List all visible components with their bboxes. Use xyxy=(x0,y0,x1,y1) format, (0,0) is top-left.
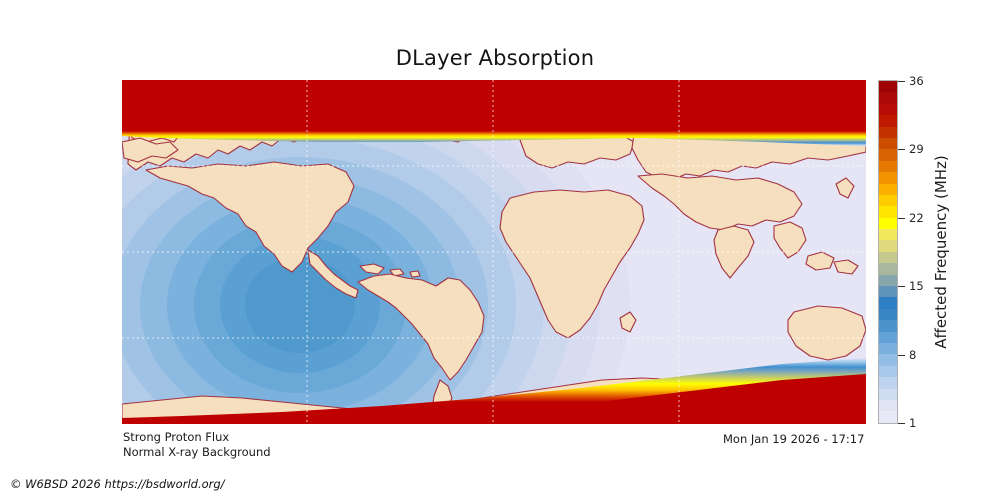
proton-flux-status: Strong Proton Flux xyxy=(123,430,229,444)
colorbar-axis-label: Affected Frequency (MHz) xyxy=(932,80,950,424)
xray-background-status: Normal X-ray Background xyxy=(123,445,271,459)
colorbar-step xyxy=(879,377,897,388)
colorbar-step xyxy=(879,411,897,422)
copyright-footer: © W6BSD 2026 https://bsdworld.org/ xyxy=(10,477,225,491)
colorbar-tick-label: 29 xyxy=(909,142,924,156)
colorbar-tick-label: 15 xyxy=(909,279,924,293)
colorbar-step xyxy=(879,92,897,103)
colorbar-tick xyxy=(898,149,905,150)
page-title: DLayer Absorption xyxy=(0,46,990,70)
colorbar-step xyxy=(879,297,897,308)
world-map-plot[interactable] xyxy=(122,80,866,424)
dlayer-absorption-figure: DLayer Absorption xyxy=(0,0,1000,500)
colorbar-step xyxy=(879,195,897,206)
colorbar-step xyxy=(879,184,897,195)
colorbar-axis-label-text: Affected Frequency (MHz) xyxy=(932,155,950,349)
colorbar-step xyxy=(879,161,897,172)
colorbar-step xyxy=(879,240,897,251)
colorbar-tick xyxy=(898,218,905,219)
colorbar-step xyxy=(879,115,897,126)
colorbar-tick-label: 1 xyxy=(909,416,916,430)
colorbar-tick xyxy=(898,81,905,82)
colorbar-step xyxy=(879,343,897,354)
colorbar-gradient xyxy=(878,80,898,424)
colorbar-step xyxy=(879,218,897,229)
colorbar-tick-label: 8 xyxy=(909,348,916,362)
colorbar-step xyxy=(879,320,897,331)
colorbar-step xyxy=(879,127,897,138)
colorbar-tick-label: 36 xyxy=(909,74,924,88)
colorbar-step xyxy=(879,309,897,320)
colorbar-step xyxy=(879,229,897,240)
continent-outlines xyxy=(122,80,866,424)
colorbar-step xyxy=(879,252,897,263)
colorbar-step xyxy=(879,400,897,411)
colorbar[interactable]: 3629221581 xyxy=(878,80,898,424)
colorbar-step xyxy=(879,275,897,286)
colorbar-step xyxy=(879,206,897,217)
colorbar-step xyxy=(879,263,897,274)
colorbar-step xyxy=(879,389,897,400)
colorbar-step xyxy=(879,286,897,297)
colorbar-step xyxy=(879,81,897,92)
colorbar-tick xyxy=(898,286,905,287)
colorbar-step xyxy=(879,332,897,343)
colorbar-step xyxy=(879,354,897,365)
colorbar-step xyxy=(879,149,897,160)
colorbar-step xyxy=(879,172,897,183)
colorbar-tick xyxy=(898,423,905,424)
colorbar-step xyxy=(879,104,897,115)
colorbar-step xyxy=(879,366,897,377)
colorbar-tick-label: 22 xyxy=(909,211,924,225)
timestamp-label: Mon Jan 19 2026 - 17:17 xyxy=(723,432,864,446)
colorbar-tick xyxy=(898,355,905,356)
colorbar-step xyxy=(879,138,897,149)
